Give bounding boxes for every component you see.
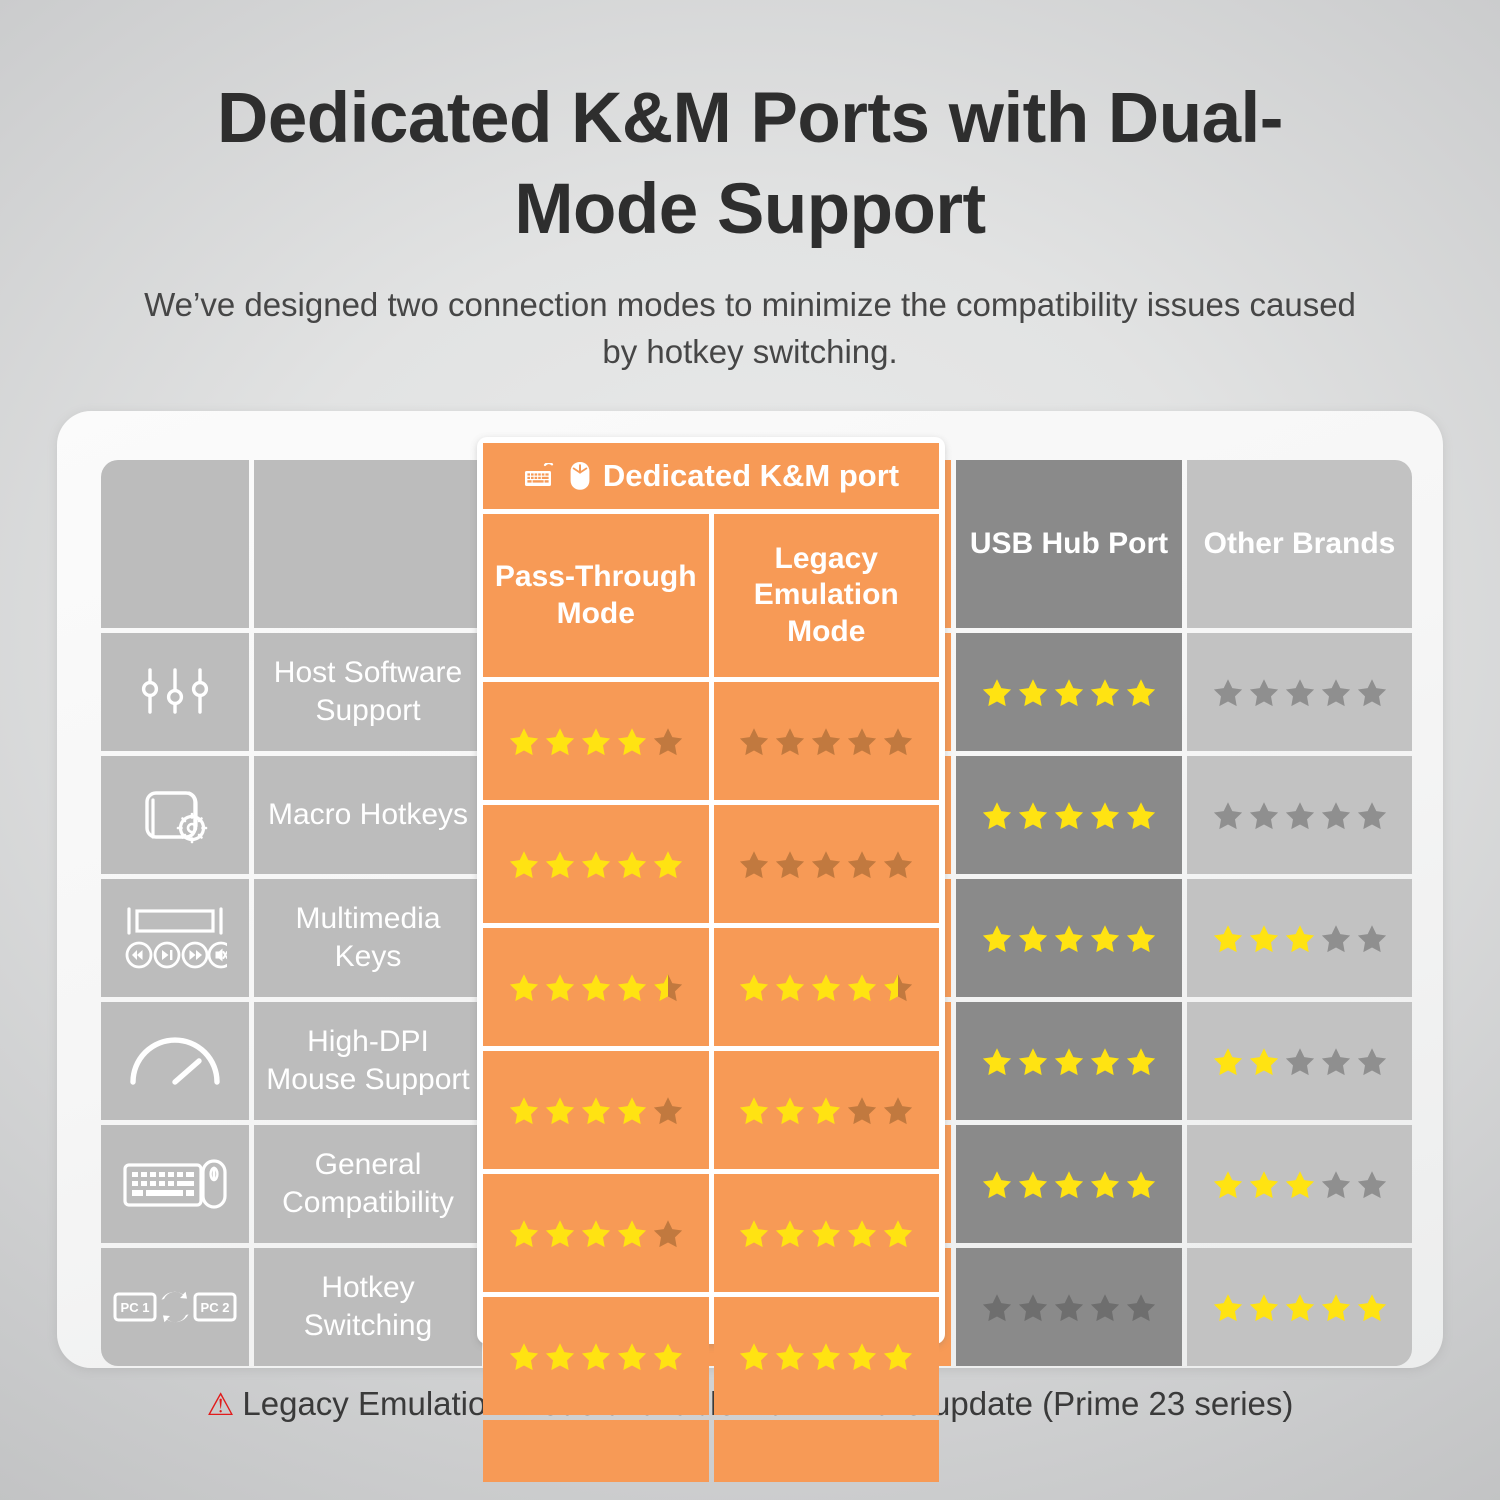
column-header-other-brands: Other Brands: [1187, 460, 1412, 628]
km-subheader-row: Pass-Through Mode Legacy Emulation Mode: [483, 514, 939, 677]
feature-label: Host Software Support: [254, 654, 482, 731]
star-rating: [981, 923, 1157, 954]
star-rating: [1212, 1292, 1388, 1323]
cell-pass-through-rating: [483, 1174, 709, 1292]
column-header-other-brands-label: Other Brands: [1196, 526, 1404, 563]
cell-legacy-emulation-rating: [714, 1051, 940, 1169]
table-corner-icon-header: [101, 460, 249, 628]
svg-text:PC 1: PC 1: [121, 1300, 150, 1315]
table-row: Multimedia Keys: [254, 879, 482, 997]
star-rating: [1212, 1046, 1388, 1077]
cell-pass-through-rating: [483, 1051, 709, 1169]
star-rating: [981, 1292, 1157, 1323]
star-rating: [1212, 923, 1388, 954]
star-rating: [738, 726, 914, 757]
km-tail-left: [483, 1420, 709, 1482]
macro-key-gear-icon: [139, 784, 211, 846]
column-header-usb-hub: USB Hub Port: [956, 460, 1182, 628]
cell-usb-hub: [956, 633, 1182, 751]
cell-usb-hub: [956, 756, 1182, 874]
star-rating: [738, 1095, 914, 1126]
dedicated-km-port-banner: Dedicated K&M port: [483, 443, 939, 509]
cell-legacy-emulation-rating: [714, 1174, 940, 1292]
column-header-legacy-emulation: Legacy Emulation Mode: [714, 514, 940, 677]
header-block: Dedicated K&M Ports with Dual-Mode Suppo…: [0, 0, 1500, 375]
feature-label: Macro Hotkeys: [258, 796, 478, 834]
star-rating: [508, 1341, 684, 1372]
svg-text:PC 2: PC 2: [201, 1300, 230, 1315]
pc-switch-icon: PC 1 PC 2: [113, 1285, 237, 1329]
feature-label: High-DPI Mouse Support: [254, 1023, 482, 1100]
star-rating: [738, 1341, 914, 1372]
star-rating: [1212, 1169, 1388, 1200]
row-icon-keyboard-mouse-icon: [101, 1125, 249, 1243]
media-keys-icon: [123, 905, 227, 971]
table-row: Macro Hotkeys: [254, 756, 482, 874]
cell-legacy-emulation-rating: [714, 682, 940, 800]
cell-pass-through-rating: [483, 805, 709, 923]
warning-icon: ⚠: [207, 1387, 235, 1422]
sliders-icon: [136, 662, 214, 722]
star-rating: [981, 1169, 1157, 1200]
km-highlight-tail: [483, 1420, 939, 1482]
table-row: High-DPI Mouse Support: [254, 1002, 482, 1120]
cell-usb-hub: [956, 879, 1182, 997]
cell-usb-hub: [956, 1125, 1182, 1243]
keyboard-icon: [523, 463, 557, 489]
km-rating-body: [483, 682, 939, 1415]
row-icon-macro-key-gear-icon: [101, 756, 249, 874]
cell-other-brands: [1187, 633, 1412, 751]
cell-usb-hub: [956, 1248, 1182, 1366]
table-row: Hotkey Switching: [254, 1248, 482, 1366]
gauge-icon: [127, 1032, 223, 1090]
page-title: Dedicated K&M Ports with Dual-Mode Suppo…: [0, 74, 1500, 256]
star-rating: [1212, 800, 1388, 831]
star-rating: [738, 972, 914, 1003]
star-rating: [981, 677, 1157, 708]
keyboard-mouse-icon: [122, 1157, 228, 1211]
feature-label: Hotkey Switching: [254, 1269, 482, 1346]
star-rating: [981, 800, 1157, 831]
dedicated-km-port-label: Dedicated K&M port: [603, 458, 899, 494]
dedicated-km-port-highlight: Dedicated K&M port Pass-Through Mode Leg…: [477, 437, 945, 1344]
star-rating: [508, 726, 684, 757]
cell-other-brands: [1187, 879, 1412, 997]
star-rating: [738, 1218, 914, 1249]
feature-label: General Compatibility: [254, 1146, 482, 1223]
cell-pass-through-rating: [483, 1297, 709, 1415]
row-icon-gauge-icon: [101, 1002, 249, 1120]
star-rating: [1212, 677, 1388, 708]
star-rating: [508, 849, 684, 880]
table-corner-feature-header: [254, 460, 482, 628]
cell-pass-through-rating: [483, 682, 709, 800]
star-rating: [981, 1046, 1157, 1077]
row-icon-media-keys-icon: [101, 879, 249, 997]
star-rating: [508, 1218, 684, 1249]
cell-legacy-emulation-rating: [714, 805, 940, 923]
table-row: Host Software Support: [254, 633, 482, 751]
cell-usb-hub: [956, 1002, 1182, 1120]
cell-other-brands: [1187, 756, 1412, 874]
mouse-icon: [569, 461, 591, 491]
cell-pass-through-rating: [483, 928, 709, 1046]
cell-other-brands: [1187, 1248, 1412, 1366]
table-row: General Compatibility: [254, 1125, 482, 1243]
column-header-pass-through: Pass-Through Mode: [483, 514, 709, 677]
cell-other-brands: [1187, 1125, 1412, 1243]
km-tail-right: [714, 1420, 940, 1482]
cell-legacy-emulation-rating: [714, 928, 940, 1046]
star-rating: [738, 849, 914, 880]
row-icon-pc-switch-icon: PC 1 PC 2: [101, 1248, 249, 1366]
feature-label: Multimedia Keys: [254, 900, 482, 977]
page-subtitle: We’ve designed two connection modes to m…: [0, 282, 1500, 376]
row-icon-sliders-icon: [101, 633, 249, 751]
star-rating: [508, 1095, 684, 1126]
column-header-usb-hub-label: USB Hub Port: [962, 526, 1176, 563]
cell-other-brands: [1187, 1002, 1412, 1120]
cell-legacy-emulation-rating: [714, 1297, 940, 1415]
star-rating: [508, 972, 684, 1003]
